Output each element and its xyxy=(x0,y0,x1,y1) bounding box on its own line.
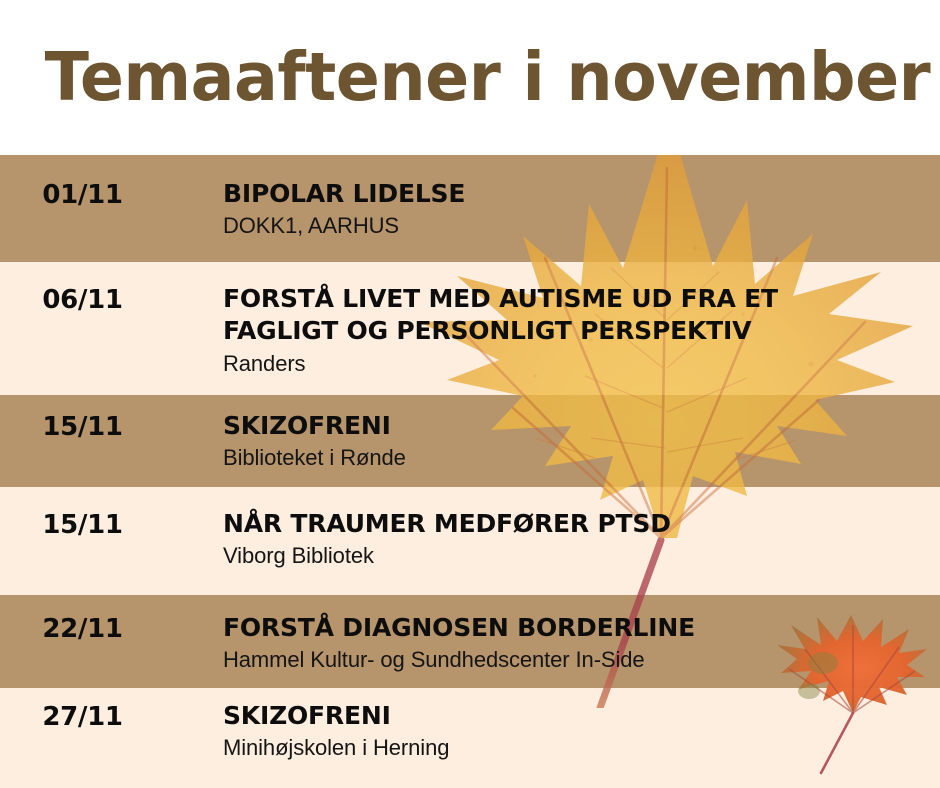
event-body: NÅR TRAUMER MEDFØRER PTSD Viborg Bibliot… xyxy=(165,508,940,571)
list-item[interactable]: 06/11 FORSTÅ LIVET MED AUTISME UD FRA ET… xyxy=(0,283,940,378)
event-body: SKIZOFRENI Biblioteket i Rønde xyxy=(165,410,940,473)
event-date: 01/11 xyxy=(0,178,165,210)
event-venue: Minihøjskolen i Herning xyxy=(223,734,940,763)
event-venue: Viborg Bibliotek xyxy=(223,542,940,571)
page-title: Temaaftener i november xyxy=(0,44,930,111)
event-body: BIPOLAR LIDELSE DOKK1, AARHUS xyxy=(165,178,940,241)
event-date: 27/11 xyxy=(0,700,165,732)
event-title: BIPOLAR LIDELSE xyxy=(223,178,940,210)
event-venue: Hammel Kultur- og Sundhedscenter In-Side xyxy=(223,646,940,675)
event-title: SKIZOFRENI xyxy=(223,410,940,442)
poster-canvas: Temaaftener i november 01/11 BIPOLAR LID… xyxy=(0,0,940,788)
event-venue: DOKK1, AARHUS xyxy=(223,212,940,241)
event-date: 15/11 xyxy=(0,410,165,442)
event-body: FORSTÅ LIVET MED AUTISME UD FRA ET FAGLI… xyxy=(165,283,940,378)
event-body: SKIZOFRENI Minihøjskolen i Herning xyxy=(165,700,940,763)
list-item[interactable]: 22/11 FORSTÅ DIAGNOSEN BORDERLINE Hammel… xyxy=(0,612,940,675)
list-item[interactable]: 15/11 NÅR TRAUMER MEDFØRER PTSD Viborg B… xyxy=(0,508,940,571)
event-venue: Biblioteket i Rønde xyxy=(223,444,940,473)
event-title: FORSTÅ DIAGNOSEN BORDERLINE xyxy=(223,612,940,644)
event-body: FORSTÅ DIAGNOSEN BORDERLINE Hammel Kultu… xyxy=(165,612,940,675)
event-title: FORSTÅ LIVET MED AUTISME UD FRA ET FAGLI… xyxy=(223,283,940,348)
event-venue: Randers xyxy=(223,350,940,379)
event-title: SKIZOFRENI xyxy=(223,700,940,732)
event-title: NÅR TRAUMER MEDFØRER PTSD xyxy=(223,508,940,540)
list-item[interactable]: 15/11 SKIZOFRENI Biblioteket i Rønde xyxy=(0,410,940,473)
event-date: 22/11 xyxy=(0,612,165,644)
list-item[interactable]: 01/11 BIPOLAR LIDELSE DOKK1, AARHUS xyxy=(0,178,940,241)
event-date: 15/11 xyxy=(0,508,165,540)
event-date: 06/11 xyxy=(0,283,165,315)
title-area: Temaaftener i november xyxy=(0,0,940,155)
list-item[interactable]: 27/11 SKIZOFRENI Minihøjskolen i Herning xyxy=(0,700,940,763)
